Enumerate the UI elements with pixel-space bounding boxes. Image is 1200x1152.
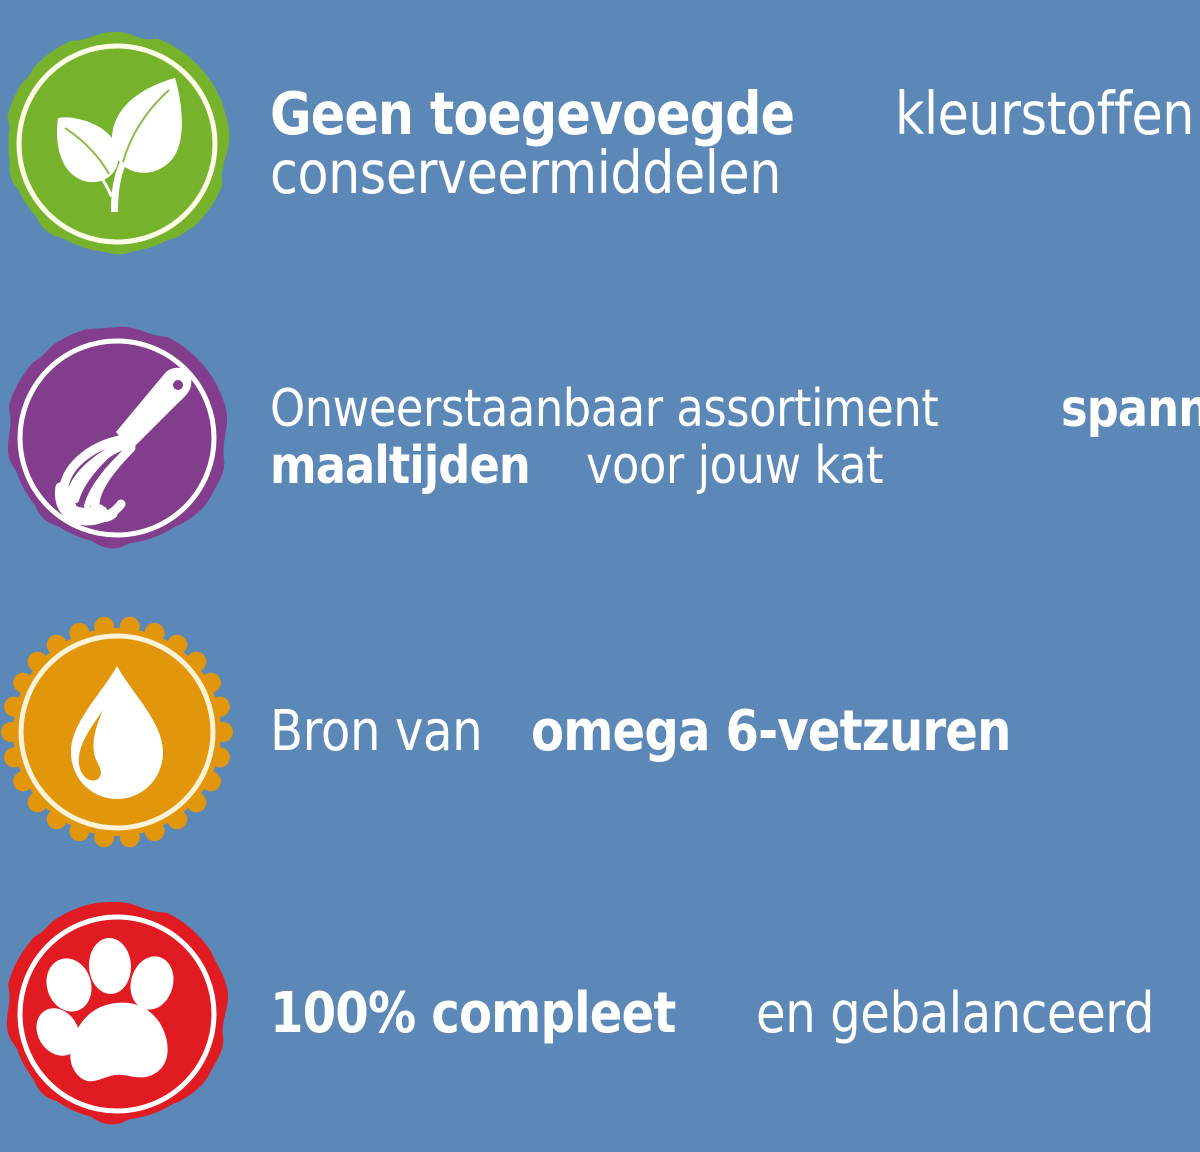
- whisk-icon: [3, 324, 231, 552]
- leaf-icon: [3, 30, 231, 258]
- droplet-badge: [3, 618, 231, 846]
- feature-2-regular-phrase-1: Onweerstaanbaar assortiment: [270, 382, 938, 437]
- paw-icon: [3, 900, 231, 1128]
- feature-3-regular-phrase: Bron van: [270, 702, 482, 761]
- badge-slot-whisk: [0, 288, 250, 588]
- feature-list-banner: Geen toegevoegdekleurstoffen en conserve…: [0, 0, 1200, 1152]
- leaf-badge: [3, 30, 231, 258]
- feature-row-complete-balanced: 100% compleeten gebalanceerd: [0, 876, 1200, 1152]
- badge-slot-leaf: [0, 0, 250, 288]
- feature-row-omega-6: Bron vanomega 6-vetzuren: [0, 588, 1200, 876]
- feature-2-regular-phrase-2: voor jouw kat: [586, 439, 883, 494]
- badge-slot-paw: [0, 876, 250, 1152]
- feature-1-regular-phrase: kleurstoffen en: [895, 83, 1200, 146]
- feature-row-irresistible-meals: Onweerstaanbaar assortimentspannende maa…: [0, 288, 1200, 588]
- feature-text-no-added-colours: Geen toegevoegdekleurstoffen en conserve…: [250, 83, 1200, 204]
- droplet-icon: [3, 618, 231, 846]
- feature-1-bold-phrase: Geen toegevoegde: [270, 83, 794, 146]
- feature-2-bold-phrase-1: spannende: [1061, 382, 1200, 437]
- feature-2-bold-phrase-2: maaltijden: [270, 439, 530, 494]
- feature-text-omega-6: Bron vanomega 6-vetzuren: [250, 702, 1200, 761]
- badge-slot-droplet: [0, 588, 250, 876]
- feature-text-complete-balanced: 100% compleeten gebalanceerd: [250, 984, 1200, 1043]
- feature-4-bold-phrase: 100% compleet: [270, 984, 676, 1043]
- feature-text-irresistible-meals: Onweerstaanbaar assortimentspannende maa…: [250, 382, 1200, 494]
- feature-3-bold-phrase: omega 6-vetzuren: [531, 702, 1011, 761]
- whisk-badge: [3, 324, 231, 552]
- paw-badge: [3, 900, 231, 1128]
- feature-row-no-added-colours: Geen toegevoegdekleurstoffen en conserve…: [0, 0, 1200, 288]
- feature-1-second-line: conserveermiddelen: [270, 142, 781, 205]
- feature-4-regular-phrase: en gebalanceerd: [756, 984, 1154, 1043]
